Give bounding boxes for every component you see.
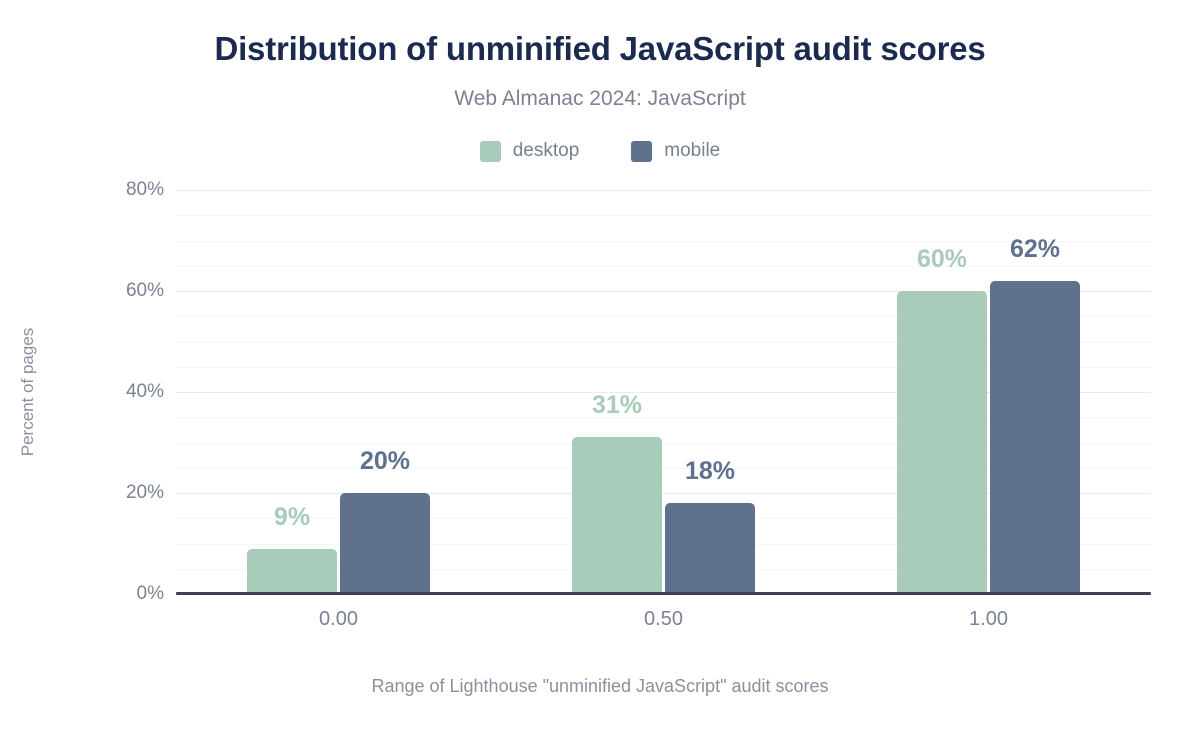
bar-label-mobile-0.50: 18% — [685, 457, 735, 486]
x-axis-title: Range of Lighthouse "unminified JavaScri… — [0, 676, 1200, 697]
gridline-minor — [176, 241, 1151, 242]
legend-item-mobile[interactable]: mobile — [631, 140, 720, 162]
x-axis-line — [176, 592, 1151, 595]
legend-swatch-mobile — [631, 141, 652, 162]
bar-mobile-0.50[interactable] — [665, 503, 755, 594]
bar-mobile-1.00[interactable] — [990, 281, 1080, 594]
chart-legend: desktop mobile — [0, 140, 1200, 162]
y-tick-label: 80% — [126, 179, 164, 201]
legend-item-desktop[interactable]: desktop — [480, 140, 580, 162]
bar-label-mobile-0.00: 20% — [360, 447, 410, 476]
chart-subtitle: Web Almanac 2024: JavaScript — [0, 87, 1200, 111]
x-tick-label: 1.00 — [969, 608, 1008, 631]
bar-label-desktop-0.00: 9% — [274, 503, 310, 532]
gridline-minor — [176, 215, 1151, 216]
legend-swatch-desktop — [480, 141, 501, 162]
chart-title: Distribution of unminified JavaScript au… — [0, 30, 1200, 68]
y-tick-label: 20% — [126, 482, 164, 504]
gridline-major — [176, 190, 1151, 191]
y-tick-label: 40% — [126, 381, 164, 403]
bar-label-mobile-1.00: 62% — [1010, 235, 1060, 264]
plot-area — [176, 190, 1151, 594]
bar-desktop-0.00[interactable] — [247, 549, 337, 594]
bar-label-desktop-1.00: 60% — [917, 245, 967, 274]
gridline-minor — [176, 266, 1151, 267]
bar-desktop-1.00[interactable] — [897, 291, 987, 594]
x-tick-label: 0.00 — [319, 608, 358, 631]
y-tick-label: 60% — [126, 280, 164, 302]
x-tick-label: 0.50 — [644, 608, 683, 631]
bar-label-desktop-0.50: 31% — [592, 391, 642, 420]
y-tick-label: 0% — [137, 583, 164, 605]
legend-label-desktop: desktop — [513, 140, 580, 162]
legend-label-mobile: mobile — [664, 140, 720, 162]
bar-desktop-0.50[interactable] — [572, 437, 662, 594]
bar-mobile-0.00[interactable] — [340, 493, 430, 594]
y-axis-title: Percent of pages — [18, 328, 38, 457]
